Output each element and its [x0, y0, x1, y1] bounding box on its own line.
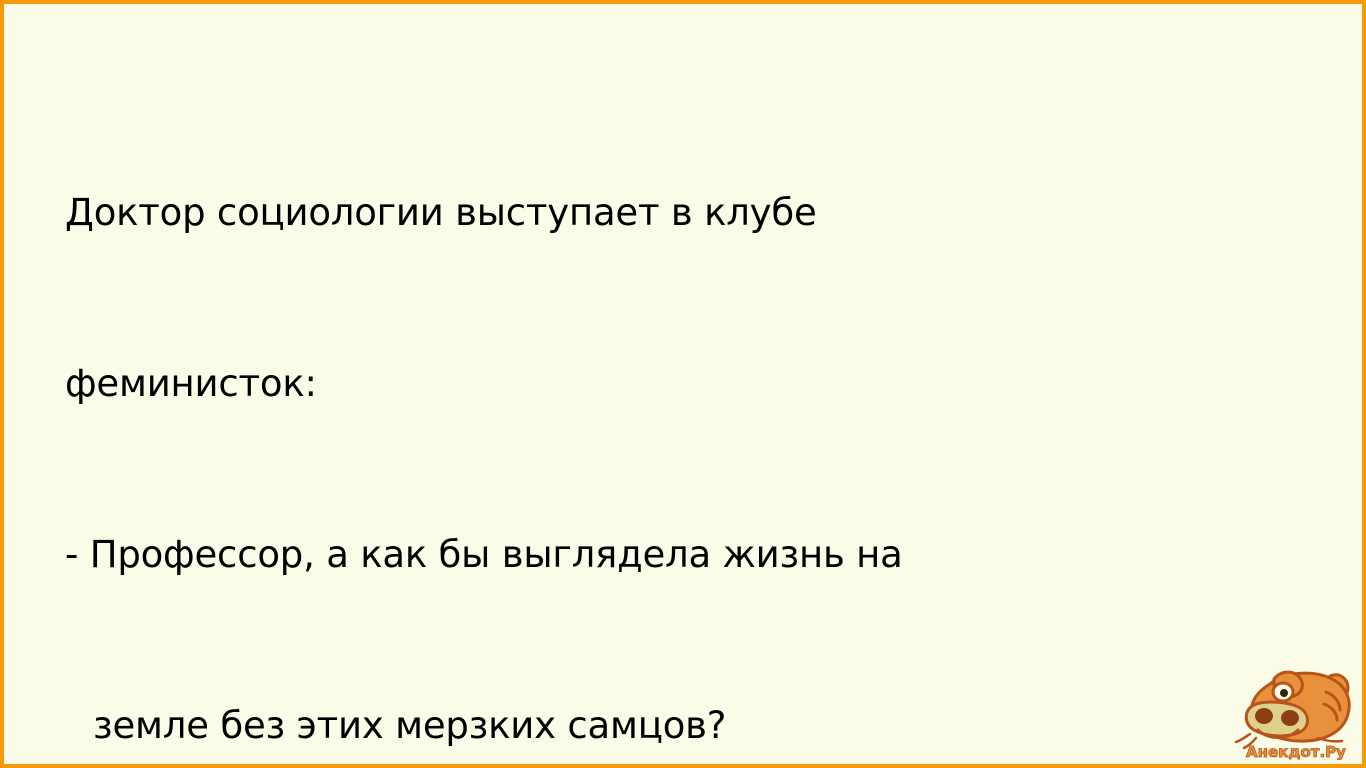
- joke-line: - Профессор, а как бы выглядела жизнь на: [65, 526, 1245, 583]
- anekdot-ru-watermark[interactable]: Анекдот.Ру: [1234, 662, 1358, 760]
- joke-line: Доктор социологии выступает в клубе: [65, 184, 1245, 241]
- joke-card: Доктор социологии выступает в клубе феми…: [0, 0, 1366, 768]
- joke-text-block: Доктор социологии выступает в клубе феми…: [65, 70, 1245, 768]
- hippo-head-icon: Анекдот.Ру: [1234, 662, 1358, 760]
- watermark-label: Анекдот.Ру: [1246, 743, 1346, 760]
- joke-line: земле без этих мерзких самцов?: [65, 697, 1245, 754]
- joke-line: феминисток:: [65, 355, 1245, 412]
